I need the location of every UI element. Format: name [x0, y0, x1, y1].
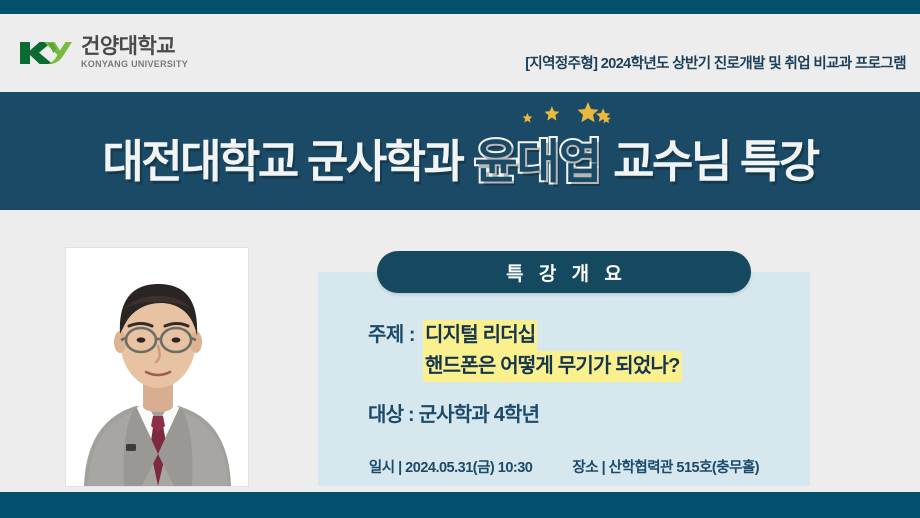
content-area: 주제 : 디지털 리더십 핸드폰은 어떻게 무기가 되었나? 대상 : 군사학과…: [0, 210, 920, 485]
program-title-line: [지역정주형] 2024학년도 상반기 진로개발 및 취업 비교과 프로그램: [525, 52, 906, 73]
topic-line-1: 디지털 리더십: [423, 320, 537, 351]
bottom-accent-bar: [0, 492, 920, 518]
topic-line-2: 핸드폰은 어떻게 무기가 되었나?: [423, 351, 682, 382]
logo-wordmark: 건양대학교 KONYANG UNIVERSITY: [81, 36, 188, 69]
title-segment-department: 대전대학교 군사학과: [102, 125, 462, 190]
logo-name-ko: 건양대학교: [81, 36, 188, 57]
konyang-ky-logo-icon: [18, 40, 72, 66]
speaker-portrait-photo: [66, 248, 248, 486]
topic-label: 주제 :: [368, 320, 415, 351]
datetime-text: 일시 | 2024.05.31(금) 10:30: [369, 456, 532, 477]
logo-name-en: KONYANG UNIVERSITY: [81, 60, 188, 69]
top-accent-strip: [0, 0, 920, 14]
speaker-name-highlight: 윤대엽: [474, 135, 601, 188]
speaker-name-wrap: 윤대엽: [474, 123, 601, 192]
gold-stars-arc-icon: [522, 99, 642, 139]
topic-row: 주제 : 디지털 리더십 핸드폰은 어떻게 무기가 되었나?: [368, 320, 682, 382]
topic-lines: 디지털 리더십 핸드폰은 어떻게 무기가 되었나?: [423, 320, 682, 382]
title-segment-lecture: 교수님 특강: [613, 125, 818, 190]
speaker-photo-frame: [66, 248, 248, 486]
header-row: 건양대학교 KONYANG UNIVERSITY [지역정주형] 2024학년도…: [0, 14, 920, 90]
location-text: 장소 | 산학협력관 515호(충무홀): [572, 456, 759, 477]
university-logo: 건양대학교 KONYANG UNIVERSITY: [18, 36, 188, 69]
overview-badge: 특 강 개 요: [377, 251, 751, 293]
main-title-banner: 대전대학교 군사학과 윤대엽 교수님 특강: [0, 92, 920, 210]
overview-info-box: 주제 : 디지털 리더십 핸드폰은 어떻게 무기가 되었나? 대상 : 군사학과…: [318, 272, 810, 486]
overview-badge-label: 특 강 개 요: [501, 259, 627, 286]
meta-row: 일시 | 2024.05.31(금) 10:30 장소 | 산학협력관 515호…: [318, 456, 810, 477]
target-audience-line: 대상 : 군사학과 4학년: [368, 398, 539, 427]
main-title-inner: 대전대학교 군사학과 윤대엽 교수님 특강: [0, 92, 920, 210]
poster-root: 건양대학교 KONYANG UNIVERSITY [지역정주형] 2024학년도…: [0, 0, 920, 518]
